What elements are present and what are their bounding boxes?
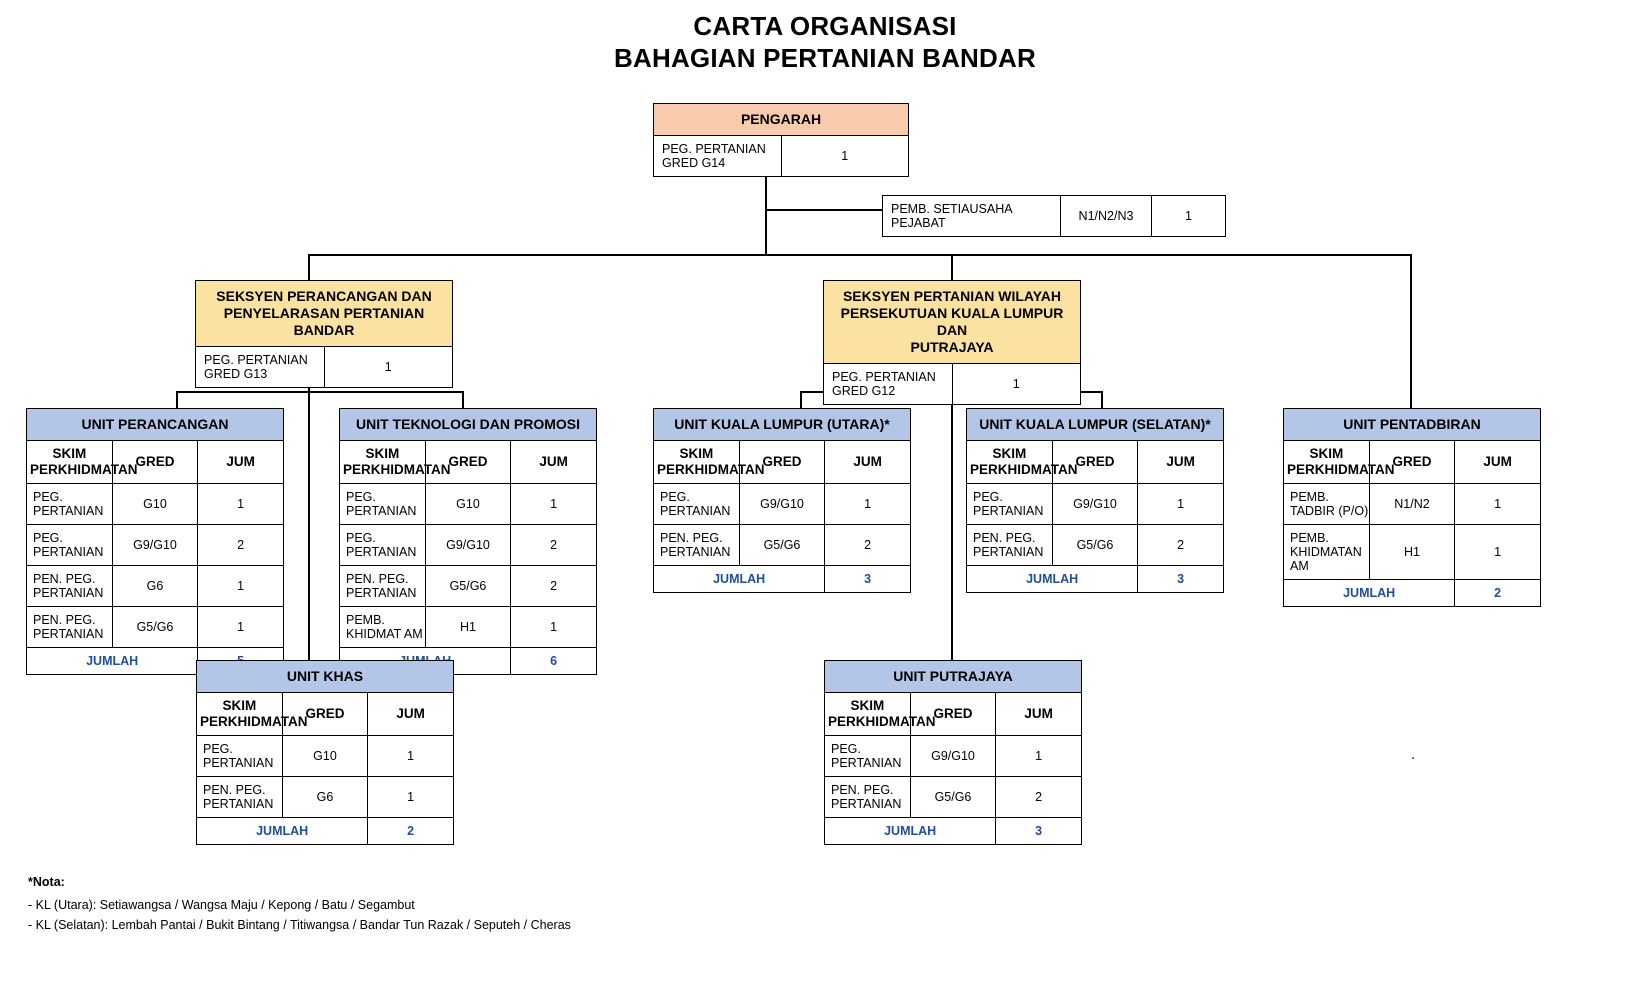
col-skim-perkhidmatan: SKIM PERKHIDMATAN	[1284, 441, 1370, 484]
row-gred: G9/G10	[425, 525, 511, 566]
seksyen-pertanian-wilayah-title: SEKSYEN PERTANIAN WILAYAH PERSEKUTUAN KU…	[824, 281, 1081, 364]
total-row: JUMLAH 2	[197, 818, 454, 845]
col-skim-perkhidmatan: SKIM PERKHIDMATAN	[654, 441, 740, 484]
table-row: PEG. PERTANIAN G9/G10 2	[340, 525, 597, 566]
row-gred: G5/G6	[739, 525, 825, 566]
total-value: 2	[1455, 580, 1541, 607]
setiausaha-post: PEMB. SETIAUSAHA PEJABAT	[883, 196, 1061, 237]
total-value: 2	[368, 818, 454, 845]
col-jum: JUM	[368, 693, 454, 736]
connector-pentadbiran-down	[1410, 254, 1412, 408]
connector-director-down	[765, 168, 767, 254]
row-gred: G6	[282, 777, 368, 818]
row-gred: G9/G10	[910, 736, 996, 777]
pengarah-title: PENGARAH	[654, 104, 909, 136]
pengarah-post-row: PEG. PERTANIAN GRED G14 1	[654, 136, 909, 177]
connector-unit-kl-utara-down	[800, 391, 802, 408]
nota-line-1: - KL (Utara): Setiawangsa / Wangsa Maju …	[28, 895, 415, 915]
row-gred: G9/G10	[739, 484, 825, 525]
connector-unit-putrajaya-down	[951, 391, 953, 660]
node-unit-kuala-lumpur-selatan[interactable]: UNIT KUALA LUMPUR (SELATAN)* SKIM PERKHI…	[966, 408, 1224, 593]
row-skim: PEG. PERTANIAN	[825, 736, 911, 777]
row-jum: 1	[1455, 484, 1541, 525]
connector-secretary-horizontal	[765, 209, 883, 211]
connector-unit-khas-down	[308, 391, 310, 660]
row-gred: H1	[1369, 525, 1455, 580]
table-row: PEN. PEG. PERTANIAN G5/G6 2	[825, 777, 1082, 818]
unit-kl-selatan-column-header: SKIM PERKHIDMATAN GRED JUM	[967, 441, 1224, 484]
row-gred: G5/G6	[425, 566, 511, 607]
node-setiausaha[interactable]: PEMB. SETIAUSAHA PEJABAT N1/N2/N3 1	[882, 195, 1194, 237]
table-row: PEN. PEG. PERTANIAN G5/G6 2	[654, 525, 911, 566]
seksyen1-title-line1: SEKSYEN PERANCANGAN DAN	[200, 288, 448, 305]
row-jum: 1	[198, 566, 284, 607]
row-skim: PEMB. KHIDMAT AM	[340, 607, 426, 648]
total-label: JUMLAH	[1284, 580, 1455, 607]
col-skim-line1: SKIM	[200, 698, 279, 714]
unit-kl-utara-header-row: UNIT KUALA LUMPUR (UTARA)*	[654, 409, 911, 441]
connector-unit-kl-selatan-down	[1101, 391, 1103, 408]
total-row: JUMLAH 3	[825, 818, 1082, 845]
page-title-line1: CARTA ORGANISASI	[0, 10, 1650, 42]
row-skim: PEG. PERTANIAN	[967, 484, 1053, 525]
col-skim-line1: SKIM	[828, 698, 907, 714]
seksyen1-post-row: PEG. PERTANIAN GRED G13 1	[196, 347, 453, 388]
table-row: PEN. PEG. PERTANIAN G6 1	[197, 777, 454, 818]
table-row: PEG. PERTANIAN G10 1	[340, 484, 597, 525]
unit-teknologi-header-row: UNIT TEKNOLOGI DAN PROMOSI	[340, 409, 597, 441]
row-jum: 1	[1138, 484, 1224, 525]
row-skim: PEN. PEG. PERTANIAN	[825, 777, 911, 818]
connector-main-bus	[308, 254, 1410, 256]
table-row: PEMB. TADBIR (P/O) N1/N2 1	[1284, 484, 1541, 525]
seksyen2-header-row: SEKSYEN PERTANIAN WILAYAH PERSEKUTUAN KU…	[824, 281, 1081, 364]
unit-khas-header-row: UNIT KHAS	[197, 661, 454, 693]
setiausaha-count: 1	[1152, 196, 1226, 237]
row-gred: G10	[282, 736, 368, 777]
col-jum: JUM	[996, 693, 1082, 736]
pengarah-count: 1	[781, 136, 909, 177]
node-unit-kuala-lumpur-utara[interactable]: UNIT KUALA LUMPUR (UTARA)* SKIM PERKHIDM…	[653, 408, 911, 593]
row-jum: 2	[1138, 525, 1224, 566]
total-row: JUMLAH 3	[654, 566, 911, 593]
seksyen-perancangan-title: SEKSYEN PERANCANGAN DAN PENYELARASAN PER…	[196, 281, 453, 347]
seksyen1-header-row: SEKSYEN PERANCANGAN DAN PENYELARASAN PER…	[196, 281, 453, 347]
row-jum: 2	[825, 525, 911, 566]
col-jum: JUM	[1455, 441, 1541, 484]
unit-kl-utara-column-header: SKIM PERKHIDMATAN GRED JUM	[654, 441, 911, 484]
unit-perancangan-title: UNIT PERANCANGAN	[27, 409, 284, 441]
unit-putrajaya-column-header: SKIM PERKHIDMATAN GRED JUM	[825, 693, 1082, 736]
node-unit-perancangan[interactable]: UNIT PERANCANGAN SKIM PERKHIDMATAN GRED …	[26, 408, 284, 675]
col-skim-line2: PERKHIDMATAN	[828, 714, 907, 730]
seksyen2-title-line2: PERSEKUTUAN KUALA LUMPUR DAN	[828, 305, 1076, 339]
row-gred: G5/G6	[112, 607, 198, 648]
row-gred: G10	[425, 484, 511, 525]
row-skim: PEG. PERTANIAN	[27, 484, 113, 525]
row-skim: PEG. PERTANIAN	[340, 525, 426, 566]
setiausaha-grade: N1/N2/N3	[1061, 196, 1152, 237]
connector-left-unit-bus	[176, 391, 463, 393]
unit-khas-column-header: SKIM PERKHIDMATAN GRED JUM	[197, 693, 454, 736]
row-skim: PEN. PEG. PERTANIAN	[27, 566, 113, 607]
row-gred: H1	[425, 607, 511, 648]
total-label: JUMLAH	[654, 566, 825, 593]
row-jum: 1	[996, 736, 1082, 777]
connector-unit-perancangan-down	[176, 391, 178, 408]
unit-perancangan-header-row: UNIT PERANCANGAN	[27, 409, 284, 441]
table-row: PEN. PEG. PERTANIAN G5/G6 1	[27, 607, 284, 648]
unit-teknologi-column-header: SKIM PERKHIDMATAN GRED JUM	[340, 441, 597, 484]
unit-putrajaya-header-row: UNIT PUTRAJAYA	[825, 661, 1082, 693]
total-label: JUMLAH	[825, 818, 996, 845]
col-skim-perkhidmatan: SKIM PERKHIDMATAN	[27, 441, 113, 484]
table-row: PEG. PERTANIAN G9/G10 2	[27, 525, 284, 566]
unit-pentadbiran-column-header: SKIM PERKHIDMATAN GRED JUM	[1284, 441, 1541, 484]
node-unit-khas[interactable]: UNIT KHAS SKIM PERKHIDMATAN GRED JUM PEG…	[196, 660, 454, 845]
total-row: JUMLAH 3	[967, 566, 1224, 593]
total-label: JUMLAH	[967, 566, 1138, 593]
col-jum: JUM	[825, 441, 911, 484]
nota-line-2: - KL (Selatan): Lembah Pantai / Bukit Bi…	[28, 915, 571, 935]
unit-kuala-lumpur-utara-title: UNIT KUALA LUMPUR (UTARA)*	[654, 409, 911, 441]
total-value: 6	[511, 648, 597, 675]
col-skim-line2: PERKHIDMATAN	[200, 714, 279, 730]
col-skim-line1: SKIM	[30, 446, 109, 462]
row-skim: PEN. PEG. PERTANIAN	[27, 607, 113, 648]
row-skim: PEMB. TADBIR (P/O)	[1284, 484, 1370, 525]
row-skim: PEN. PEG. PERTANIAN	[654, 525, 740, 566]
connector-section-right-down	[951, 254, 953, 280]
row-skim: PEG. PERTANIAN	[654, 484, 740, 525]
row-gred: G9/G10	[112, 525, 198, 566]
total-value: 3	[1138, 566, 1224, 593]
col-skim-line2: PERKHIDMATAN	[30, 462, 109, 478]
page-title: CARTA ORGANISASI BAHAGIAN PERTANIAN BAND…	[0, 10, 1650, 74]
seksyen-perancangan-post: PEG. PERTANIAN GRED G13	[196, 347, 325, 388]
row-jum: 1	[511, 484, 597, 525]
total-label: JUMLAH	[197, 818, 368, 845]
node-pengarah[interactable]: PENGARAH PEG. PERTANIAN GRED G14 1	[653, 103, 909, 177]
col-skim-line1: SKIM	[970, 446, 1049, 462]
row-skim: PEN. PEG. PERTANIAN	[967, 525, 1053, 566]
col-skim-line1: SKIM	[343, 446, 422, 462]
setiausaha-row: PEMB. SETIAUSAHA PEJABAT N1/N2/N3 1	[883, 196, 1226, 237]
row-jum: 2	[996, 777, 1082, 818]
row-jum: 1	[368, 736, 454, 777]
table-row: PEMB. KHIDMATAN AM H1 1	[1284, 525, 1541, 580]
unit-kuala-lumpur-selatan-title: UNIT KUALA LUMPUR (SELATAN)*	[967, 409, 1224, 441]
col-skim-perkhidmatan: SKIM PERKHIDMATAN	[197, 693, 283, 736]
seksyen-pertanian-wilayah-post: PEG. PERTANIAN GRED G12	[824, 364, 953, 405]
table-row: PEG. PERTANIAN G9/G10 1	[825, 736, 1082, 777]
seksyen1-title-line3: BANDAR	[200, 322, 448, 339]
row-skim: PEN. PEG. PERTANIAN	[340, 566, 426, 607]
col-skim-perkhidmatan: SKIM PERKHIDMATAN	[825, 693, 911, 736]
unit-putrajaya-title: UNIT PUTRAJAYA	[825, 661, 1082, 693]
pengarah-header-row: PENGARAH	[654, 104, 909, 136]
node-seksyen-perancangan[interactable]: SEKSYEN PERANCANGAN DAN PENYELARASAN PER…	[195, 280, 453, 388]
unit-perancangan-column-header: SKIM PERKHIDMATAN GRED JUM	[27, 441, 284, 484]
seksyen1-title-line2: PENYELARASAN PERTANIAN	[200, 305, 448, 322]
table-row: PEG. PERTANIAN G9/G10 1	[654, 484, 911, 525]
row-skim: PEG. PERTANIAN	[197, 736, 283, 777]
row-gred: N1/N2	[1369, 484, 1455, 525]
total-value: 3	[996, 818, 1082, 845]
node-seksyen-pertanian-wilayah[interactable]: SEKSYEN PERTANIAN WILAYAH PERSEKUTUAN KU…	[823, 280, 1081, 405]
col-jum: JUM	[511, 441, 597, 484]
row-skim: PEG. PERTANIAN	[340, 484, 426, 525]
total-row: JUMLAH 2	[1284, 580, 1541, 607]
row-jum: 1	[198, 607, 284, 648]
stray-dot-artifact	[1412, 757, 1414, 759]
col-skim-perkhidmatan: SKIM PERKHIDMATAN	[967, 441, 1053, 484]
col-skim-line2: PERKHIDMATAN	[970, 462, 1049, 478]
row-jum: 1	[825, 484, 911, 525]
unit-khas-title: UNIT KHAS	[197, 661, 454, 693]
row-jum: 2	[511, 566, 597, 607]
unit-teknologi-dan-promosi-title: UNIT TEKNOLOGI DAN PROMOSI	[340, 409, 597, 441]
row-gred: G10	[112, 484, 198, 525]
seksyen2-title-line1: SEKSYEN PERTANIAN WILAYAH	[828, 288, 1076, 305]
row-jum: 1	[511, 607, 597, 648]
connector-unit-teknologi-down	[462, 391, 464, 408]
row-jum: 1	[368, 777, 454, 818]
col-skim-line1: SKIM	[657, 446, 736, 462]
unit-pentadbiran-header-row: UNIT PENTADBIRAN	[1284, 409, 1541, 441]
row-skim: PEG. PERTANIAN	[27, 525, 113, 566]
row-jum: 2	[511, 525, 597, 566]
col-skim-perkhidmatan: SKIM PERKHIDMATAN	[340, 441, 426, 484]
row-jum: 2	[198, 525, 284, 566]
col-jum: JUM	[1138, 441, 1224, 484]
table-row: PEN. PEG. PERTANIAN G5/G6 2	[967, 525, 1224, 566]
table-row: PEN. PEG. PERTANIAN G6 1	[27, 566, 284, 607]
node-unit-putrajaya[interactable]: UNIT PUTRAJAYA SKIM PERKHIDMATAN GRED JU…	[824, 660, 1082, 845]
table-row: PEN. PEG. PERTANIAN G5/G6 2	[340, 566, 597, 607]
col-skim-line2: PERKHIDMATAN	[657, 462, 736, 478]
connector-section-left-down	[308, 254, 310, 280]
table-row: PEG. PERTANIAN G10 1	[27, 484, 284, 525]
row-gred: G6	[112, 566, 198, 607]
pengarah-post: PEG. PERTANIAN GRED G14	[654, 136, 782, 177]
seksyen-pertanian-wilayah-count: 1	[952, 364, 1081, 405]
page-title-line2: BAHAGIAN PERTANIAN BANDAR	[0, 42, 1650, 74]
seksyen2-title-line3: PUTRAJAYA	[828, 339, 1076, 356]
row-gred: G9/G10	[1052, 484, 1138, 525]
unit-kl-selatan-header-row: UNIT KUALA LUMPUR (SELATAN)*	[967, 409, 1224, 441]
table-row: PEMB. KHIDMAT AM H1 1	[340, 607, 597, 648]
col-skim-line2: PERKHIDMATAN	[343, 462, 422, 478]
seksyen-perancangan-count: 1	[324, 347, 453, 388]
total-value: 3	[825, 566, 911, 593]
col-skim-line2: PERKHIDMATAN	[1287, 462, 1366, 478]
org-chart-canvas: CARTA ORGANISASI BAHAGIAN PERTANIAN BAND…	[0, 0, 1650, 1001]
row-gred: G5/G6	[910, 777, 996, 818]
col-jum: JUM	[198, 441, 284, 484]
row-skim: PEN. PEG. PERTANIAN	[197, 777, 283, 818]
table-row: PEG. PERTANIAN G9/G10 1	[967, 484, 1224, 525]
node-unit-pentadbiran[interactable]: UNIT PENTADBIRAN SKIM PERKHIDMATAN GRED …	[1283, 408, 1541, 607]
node-unit-teknologi-dan-promosi[interactable]: UNIT TEKNOLOGI DAN PROMOSI SKIM PERKHIDM…	[339, 408, 597, 675]
seksyen2-post-row: PEG. PERTANIAN GRED G12 1	[824, 364, 1081, 405]
row-skim: PEMB. KHIDMATAN AM	[1284, 525, 1370, 580]
row-gred: G5/G6	[1052, 525, 1138, 566]
unit-pentadbiran-title: UNIT PENTADBIRAN	[1284, 409, 1541, 441]
table-row: PEG. PERTANIAN G10 1	[197, 736, 454, 777]
total-label: JUMLAH	[27, 648, 198, 675]
nota-heading: *Nota:	[28, 872, 65, 892]
row-jum: 1	[198, 484, 284, 525]
col-skim-line1: SKIM	[1287, 446, 1366, 462]
row-jum: 1	[1455, 525, 1541, 580]
